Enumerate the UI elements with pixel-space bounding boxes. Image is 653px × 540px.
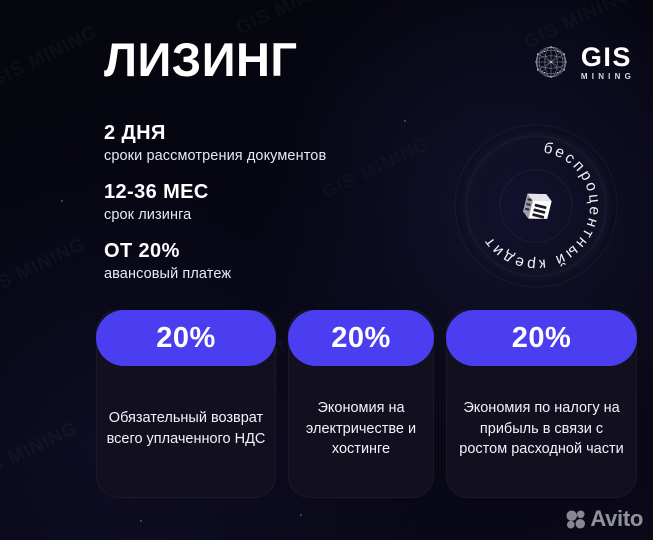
spec-item: 2 ДНЯ сроки рассмотрения документов — [104, 122, 434, 164]
card-text: Экономия по налогу на прибыль в связи с … — [456, 398, 627, 460]
brand-subtitle: MINING — [581, 73, 635, 81]
brand-logo: GIS MINING — [529, 40, 635, 84]
card-percent-badge: 20% — [96, 310, 276, 366]
brand-name: GIS — [581, 44, 635, 71]
spec-value: ОТ 20% — [104, 240, 434, 263]
card-percent-badge: 20% — [288, 310, 434, 366]
spec-item: 12-36 МЕС срок лизинга — [104, 181, 434, 223]
avito-dots-icon — [566, 510, 585, 529]
spec-list: 2 ДНЯ сроки рассмотрения документов 12-3… — [104, 122, 434, 299]
benefit-card[interactable]: 20% Обязательный возврат всего уплаченно… — [96, 310, 276, 498]
avito-label: Avito — [590, 506, 643, 532]
card-percent-badge: 20% — [446, 310, 637, 366]
card-percent: 20% — [512, 322, 572, 355]
asic-miner-icon — [515, 185, 557, 227]
card-percent: 20% — [156, 322, 216, 355]
avito-watermark: Avito — [566, 506, 643, 532]
brand-text: GIS MINING — [581, 44, 635, 81]
circular-badge: беспроцентный кредит — [452, 122, 620, 290]
benefit-card[interactable]: 20% Экономия по налогу на прибыль в связ… — [446, 310, 637, 498]
spec-label: авансовый платеж — [104, 266, 434, 282]
benefit-cards: 20% Обязательный возврат всего уплаченно… — [96, 310, 637, 498]
speck — [300, 514, 302, 516]
spec-label: сроки рассмотрения документов — [104, 148, 434, 164]
card-percent: 20% — [331, 322, 391, 355]
spec-item: ОТ 20% авансовый платеж — [104, 240, 434, 282]
card-body: Обязательный возврат всего уплаченного Н… — [96, 366, 276, 498]
speck — [61, 200, 63, 202]
wireframe-globe-icon — [529, 40, 573, 84]
card-text: Экономия на электричестве и хостинге — [298, 398, 424, 460]
spec-value: 2 ДНЯ — [104, 122, 434, 145]
card-text: Обязательный возврат всего уплаченного Н… — [106, 408, 266, 449]
card-body: Экономия на электричестве и хостинге — [288, 366, 434, 498]
card-body: Экономия по налогу на прибыль в связи с … — [446, 366, 637, 498]
spec-value: 12-36 МЕС — [104, 181, 434, 204]
spec-label: срок лизинга — [104, 207, 434, 223]
speck — [140, 520, 142, 522]
benefit-card[interactable]: 20% Экономия на электричестве и хостинге — [288, 310, 434, 498]
